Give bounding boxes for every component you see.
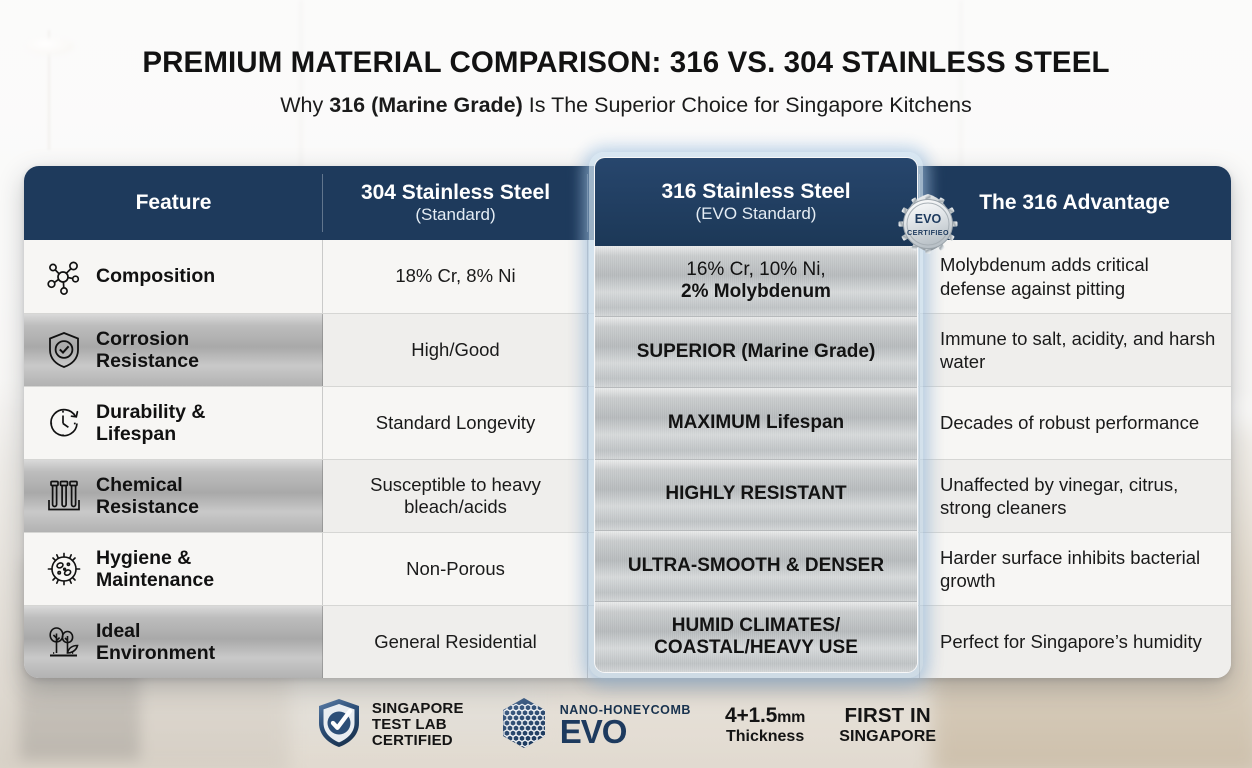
footer-badges: SINGAPORE TEST LAB CERTIFIED <box>0 692 1252 758</box>
value-316: ULTRA-SMOOTH & DENSER <box>628 555 884 577</box>
evo-certified-badge: EVO CERTIFIEO <box>897 193 959 255</box>
value-316: SUPERIOR (Marine Grade) <box>637 341 876 363</box>
cell-316: HUMID CLIMATES/COASTAL/HEAVY USE <box>595 602 917 672</box>
header-block: PREMIUM MATERIAL COMPARISON: 316 VS. 304… <box>0 46 1252 118</box>
column-header-316-title: 316 Stainless Steel <box>661 180 850 204</box>
molecule-icon <box>42 257 86 297</box>
column-header-304-subtitle: (Standard) <box>415 205 495 225</box>
column-header-advantage-title: The 316 Advantage <box>979 191 1170 215</box>
feature-label: Durability &Lifespan <box>96 401 205 445</box>
feature-cell: Composition <box>24 240 323 313</box>
subtitle-emphasis: 316 (Marine Grade) <box>329 93 523 117</box>
cell-advantage: Unaffected by vinegar, citrus, strong cl… <box>920 460 1231 532</box>
cell-316: ULTRA-SMOOTH & DENSER <box>595 531 917 602</box>
value-304: Non-Porous <box>406 558 505 580</box>
thickness-unit: mm <box>777 709 805 726</box>
cell-316: HIGHLY RESISTANT <box>595 460 917 531</box>
value-316: 16% Cr, 10% Ni,2% Molybdenum <box>681 259 831 303</box>
cell-advantage: Immune to salt, acidity, and harsh water <box>920 314 1231 386</box>
thickness-number: 4+1.5 <box>725 704 777 727</box>
badge-line-2: TEST LAB <box>372 717 464 733</box>
value-advantage: Harder surface inhibits bacterial growth <box>940 546 1217 592</box>
feature-cell: IdealEnvironment <box>24 606 323 678</box>
feature-label: CorrosionResistance <box>96 328 199 372</box>
cell-advantage: Perfect for Singapore’s humidity <box>920 606 1231 678</box>
singapore-test-lab-text: SINGAPORE TEST LAB CERTIFIED <box>372 701 464 749</box>
value-304: Standard Longevity <box>376 412 535 434</box>
cell-316: 16% Cr, 10% Ni,2% Molybdenum <box>595 246 917 317</box>
column-header-feature: Feature <box>24 166 323 240</box>
page-subtitle: Why 316 (Marine Grade) Is The Superior C… <box>0 93 1252 118</box>
test-tubes-icon <box>42 476 86 516</box>
value-advantage: Molybdenum adds critical defense against… <box>940 253 1217 299</box>
cell-316: SUPERIOR (Marine Grade) <box>595 317 917 388</box>
cell-304: Standard Longevity <box>323 387 588 459</box>
clock-history-icon <box>42 403 86 443</box>
first-in-singapore-badge: FIRST IN SINGAPORE <box>839 705 936 746</box>
feature-cell: ChemicalResistance <box>24 460 323 532</box>
value-304: High/Good <box>411 339 499 361</box>
value-304: Susceptible to heavy bleach/acids <box>335 474 576 518</box>
feature-label: Composition <box>96 265 215 287</box>
column-header-advantage: The 316 Advantage <box>920 166 1231 240</box>
value-advantage: Decades of robust performance <box>940 411 1199 434</box>
evo-badge-top-text: EVO <box>915 212 942 226</box>
thickness-value: 4+1.5mm <box>725 704 805 728</box>
value-316: HUMID CLIMATES/COASTAL/HEAVY USE <box>654 615 858 659</box>
cell-304: High/Good <box>323 314 588 386</box>
page-title: PREMIUM MATERIAL COMPARISON: 316 VS. 304… <box>0 46 1252 80</box>
feature-cell: CorrosionResistance <box>24 314 323 386</box>
cell-advantage: Harder surface inhibits bacterial growth <box>920 533 1231 605</box>
value-316: HIGHLY RESISTANT <box>665 483 846 505</box>
cell-304: Non-Porous <box>323 533 588 605</box>
nano-honeycomb-text: NANO-HONEYCOMB EVO <box>560 704 691 746</box>
thickness-badge: 4+1.5mm Thickness <box>725 704 805 745</box>
nano-honeycomb-evo-badge: NANO-HONEYCOMB EVO <box>498 696 691 755</box>
first-in-line-2: SINGAPORE <box>839 728 936 746</box>
trees-plant-icon <box>42 622 86 662</box>
singapore-test-lab-badge: SINGAPORE TEST LAB CERTIFIED <box>316 697 464 754</box>
column-header-feature-title: Feature <box>136 191 212 215</box>
column-header-304: 304 Stainless Steel (Standard) <box>323 166 588 240</box>
subtitle-post: Is The Superior Choice for Singapore Kit… <box>523 93 972 117</box>
feature-cell: Durability &Lifespan <box>24 387 323 459</box>
value-304: General Residential <box>374 631 536 653</box>
column-header-304-title: 304 Stainless Steel <box>361 181 550 205</box>
value-316-bold: 2% Molybdenum <box>681 281 831 302</box>
highlighted-column-316[interactable]: 316 Stainless Steel (EVO Standard) 16% C… <box>589 152 923 678</box>
first-in-line-1: FIRST IN <box>845 705 931 728</box>
shield-check-badge-icon <box>316 697 362 754</box>
cell-304: Susceptible to heavy bleach/acids <box>323 460 588 532</box>
column-header-316-subtitle: (EVO Standard) <box>696 204 817 224</box>
thickness-label: Thickness <box>726 728 804 746</box>
cell-316: MAXIMUM Lifespan <box>595 388 917 459</box>
germ-icon <box>42 549 86 589</box>
feature-cell: Hygiene &Maintenance <box>24 533 323 605</box>
feature-label: Hygiene &Maintenance <box>96 547 214 591</box>
value-advantage: Unaffected by vinegar, citrus, strong cl… <box>940 473 1217 519</box>
column-header-316: 316 Stainless Steel (EVO Standard) <box>595 158 917 246</box>
evo-badge-bottom-text: CERTIFIEO <box>907 228 949 237</box>
value-316: MAXIMUM Lifespan <box>668 412 844 434</box>
value-304: 18% Cr, 8% Ni <box>395 265 515 287</box>
evo-wordmark: EVO <box>560 717 691 746</box>
shield-check-icon <box>42 330 86 370</box>
subtitle-pre: Why <box>280 93 329 117</box>
badge-line-3: CERTIFIED <box>372 733 464 749</box>
honeycomb-hex-icon <box>498 696 550 755</box>
feature-label: IdealEnvironment <box>96 620 215 664</box>
feature-label: ChemicalResistance <box>96 474 199 518</box>
value-advantage: Immune to salt, acidity, and harsh water <box>940 327 1217 373</box>
value-advantage: Perfect for Singapore’s humidity <box>940 630 1202 653</box>
cell-304: 18% Cr, 8% Ni <box>323 240 588 313</box>
badge-line-1: SINGAPORE <box>372 701 464 717</box>
value-316-regular: 16% Cr, 10% Ni, <box>686 259 825 280</box>
cell-advantage: Decades of robust performance <box>920 387 1231 459</box>
cell-304: General Residential <box>323 606 588 678</box>
cell-advantage: Molybdenum adds critical defense against… <box>920 240 1231 313</box>
